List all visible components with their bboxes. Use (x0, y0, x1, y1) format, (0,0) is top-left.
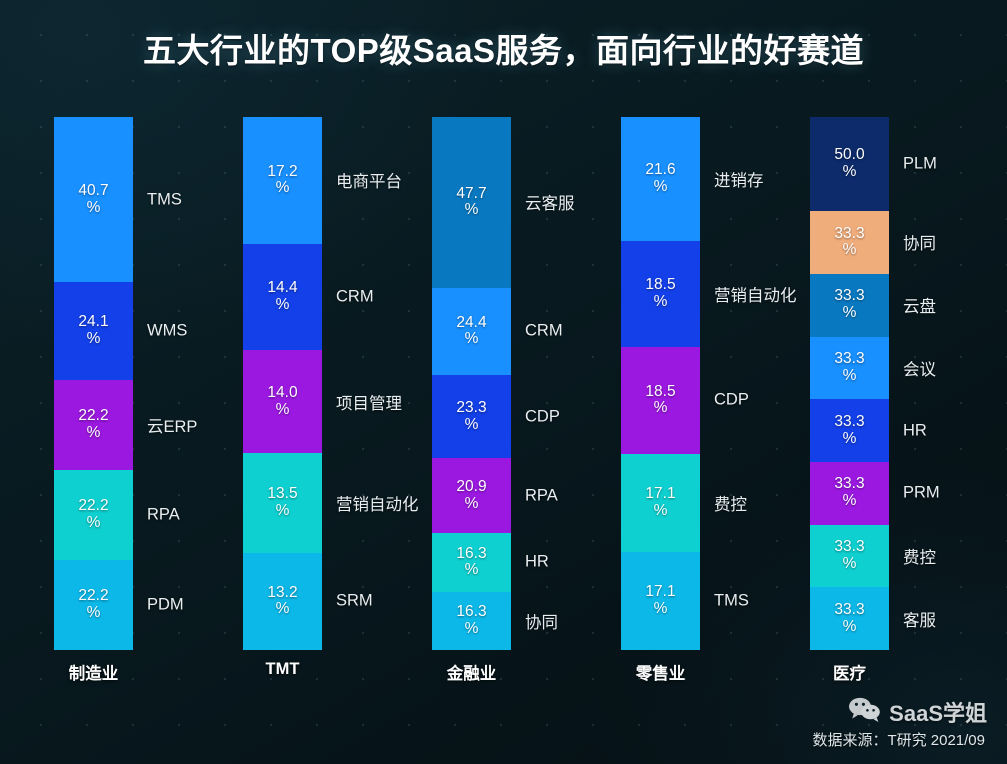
bar-segment-协同[interactable]: 33.3% (810, 211, 889, 274)
stacked-bar: 17.2%14.4%14.0%13.5%13.2% (243, 117, 322, 650)
category-label-制造业: 制造业 (54, 660, 133, 684)
bar-segment-会议[interactable]: 33.3% (810, 337, 889, 400)
watermark: SaaS学姐 (848, 696, 987, 728)
segment-percent-sign: % (843, 164, 857, 181)
segment-percent-sign: % (843, 619, 857, 636)
segment-percent-sign: % (465, 417, 479, 434)
segment-value: 18.5 (645, 277, 675, 294)
segment-percent-sign: % (843, 368, 857, 385)
stacked-bar: 50.0%33.3%33.3%33.3%33.3%33.3%33.3%33.3% (810, 117, 889, 650)
bar-segment-RPA[interactable]: 22.2% (54, 470, 133, 560)
segment-percent-sign: % (654, 400, 668, 417)
segment-value: 22.2 (78, 498, 108, 515)
segment-label-进销存: 进销存 (714, 167, 764, 191)
segment-label-费控: 费控 (903, 544, 936, 568)
segment-label-RPA: RPA (147, 505, 180, 524)
segment-value: 16.3 (456, 604, 486, 621)
segment-label-协同: 协同 (903, 230, 936, 254)
segment-percent-sign: % (843, 493, 857, 510)
bar-segment-费控[interactable]: 17.1% (621, 454, 700, 552)
source-note: 数据来源：T研究 2021/09 (812, 729, 985, 750)
bar-segment-PRM[interactable]: 33.3% (810, 462, 889, 525)
stacked-bar: 21.6%18.5%18.5%17.1%17.1% (621, 117, 700, 650)
bar-segment-CRM[interactable]: 24.4% (432, 288, 511, 375)
segment-percent-sign: % (87, 331, 101, 348)
bar-segment-项目管理[interactable]: 14.0% (243, 350, 322, 453)
segment-value: 13.5 (267, 486, 297, 503)
bar-segment-云ERP[interactable]: 22.2% (54, 380, 133, 470)
bar-segment-HR[interactable]: 33.3% (810, 399, 889, 462)
segment-label-RPA: RPA (525, 486, 558, 505)
segment-value: 17.2 (267, 164, 297, 181)
segment-label-PRM: PRM (903, 484, 940, 503)
segment-value: 33.3 (834, 414, 864, 431)
segment-value: 17.1 (645, 486, 675, 503)
segment-value: 33.3 (834, 602, 864, 619)
segment-percent-sign: % (465, 331, 479, 348)
segment-value: 22.2 (78, 588, 108, 605)
segment-label-云ERP: 云ERP (147, 413, 197, 437)
bar-segment-进销存[interactable]: 21.6% (621, 117, 700, 241)
bar-segment-客服[interactable]: 33.3% (810, 587, 889, 650)
category-label-医疗: 医疗 (810, 660, 889, 684)
segment-value: 16.3 (456, 546, 486, 563)
segment-label-CRM: CRM (336, 287, 374, 306)
watermark-text: SaaS学姐 (889, 696, 987, 728)
segment-label-TMS: TMS (147, 190, 182, 209)
bar-segment-CDP[interactable]: 18.5% (621, 347, 700, 453)
segment-label-TMS: TMS (714, 591, 749, 610)
segment-percent-sign: % (654, 601, 668, 618)
segment-value: 40.7 (78, 183, 108, 200)
segment-percent-sign: % (87, 425, 101, 442)
bar-segment-电商平台[interactable]: 17.2% (243, 117, 322, 244)
category-label-零售业: 零售业 (621, 660, 700, 684)
bar-segment-TMS[interactable]: 40.7% (54, 117, 133, 282)
bar-column-制造业: 40.7%24.1%22.2%22.2%22.2%TMSWMS云ERPRPAPD… (54, 117, 133, 650)
segment-label-费控: 费控 (714, 491, 747, 515)
segment-percent-sign: % (276, 297, 290, 314)
segment-value: 24.1 (78, 314, 108, 331)
segment-value: 33.3 (834, 539, 864, 556)
segment-label-电商平台: 电商平台 (336, 168, 402, 192)
segment-value: 23.3 (456, 400, 486, 417)
bar-segment-WMS[interactable]: 24.1% (54, 282, 133, 380)
bar-segment-云客服[interactable]: 47.7% (432, 117, 511, 288)
chart-canvas: 五大行业的TOP级SaaS服务，面向行业的好赛道 40.7%24.1%22.2%… (0, 0, 1007, 764)
segment-value: 13.2 (267, 585, 297, 602)
bar-column-医疗: 50.0%33.3%33.3%33.3%33.3%33.3%33.3%33.3%… (810, 117, 889, 650)
segment-label-客服: 客服 (903, 607, 936, 631)
segment-value: 18.5 (645, 384, 675, 401)
segment-percent-sign: % (843, 556, 857, 573)
segment-value: 21.6 (645, 162, 675, 179)
segment-value: 22.2 (78, 408, 108, 425)
segment-percent-sign: % (276, 180, 290, 197)
bar-segment-CRM[interactable]: 14.4% (243, 244, 322, 350)
segment-label-WMS: WMS (147, 321, 187, 340)
segment-percent-sign: % (843, 305, 857, 322)
segment-value: 14.0 (267, 385, 297, 402)
bar-segment-云盘[interactable]: 33.3% (810, 274, 889, 337)
segment-percent-sign: % (465, 621, 479, 638)
segment-percent-sign: % (87, 605, 101, 622)
segment-percent-sign: % (276, 402, 290, 419)
bar-segment-PLM[interactable]: 50.0% (810, 117, 889, 211)
bar-column-金融业: 47.7%24.4%23.3%20.9%16.3%16.3%云客服CRMCDPR… (432, 117, 511, 650)
segment-label-营销自动化: 营销自动化 (336, 491, 419, 515)
segment-percent-sign: % (276, 601, 290, 618)
segment-label-项目管理: 项目管理 (336, 390, 402, 414)
bar-segment-CDP[interactable]: 23.3% (432, 375, 511, 458)
segment-value: 20.9 (456, 479, 486, 496)
bar-segment-RPA[interactable]: 20.9% (432, 458, 511, 533)
bar-segment-营销自动化[interactable]: 18.5% (621, 241, 700, 347)
segment-label-云盘: 云盘 (903, 293, 936, 317)
category-label-金融业: 金融业 (432, 660, 511, 684)
segment-label-CDP: CDP (525, 407, 560, 426)
segment-label-PLM: PLM (903, 155, 937, 174)
segment-percent-sign: % (654, 179, 668, 196)
segment-label-营销自动化: 营销自动化 (714, 282, 797, 306)
page-title: 五大行业的TOP级SaaS服务，面向行业的好赛道 (0, 24, 1007, 72)
category-label-TMT: TMT (243, 660, 322, 679)
segment-label-PDM: PDM (147, 595, 184, 614)
segment-percent-sign: % (276, 503, 290, 520)
segment-value: 14.4 (267, 280, 297, 297)
segment-percent-sign: % (654, 503, 668, 520)
segment-label-云客服: 云客服 (525, 190, 575, 214)
segment-percent-sign: % (465, 202, 479, 219)
bar-column-TMT: 17.2%14.4%14.0%13.5%13.2%电商平台CRM项目管理营销自动… (243, 117, 322, 650)
segment-value: 17.1 (645, 584, 675, 601)
stacked-bar: 40.7%24.1%22.2%22.2%22.2% (54, 117, 133, 650)
segment-value: 47.7 (456, 186, 486, 203)
segment-label-HR: HR (903, 421, 927, 440)
segment-value: 33.3 (834, 226, 864, 243)
bar-segment-SRM[interactable]: 13.2% (243, 553, 322, 650)
segment-percent-sign: % (465, 496, 479, 513)
segment-percent-sign: % (465, 562, 479, 579)
segment-label-协同: 协同 (525, 609, 558, 633)
stacked-bar-plot-area: 40.7%24.1%22.2%22.2%22.2%TMSWMS云ERPRPAPD… (0, 117, 1007, 650)
bar-segment-协同[interactable]: 16.3% (432, 592, 511, 650)
segment-value: 33.3 (834, 351, 864, 368)
segment-value: 33.3 (834, 288, 864, 305)
segment-percent-sign: % (843, 242, 857, 259)
bar-segment-PDM[interactable]: 22.2% (54, 560, 133, 650)
wechat-icon (848, 697, 882, 728)
segment-value: 33.3 (834, 476, 864, 493)
segment-percent-sign: % (87, 200, 101, 217)
segment-label-会议: 会议 (903, 356, 936, 380)
segment-percent-sign: % (843, 431, 857, 448)
stacked-bar: 47.7%24.4%23.3%20.9%16.3%16.3% (432, 117, 511, 650)
bar-segment-费控[interactable]: 33.3% (810, 525, 889, 588)
segment-label-HR: HR (525, 553, 549, 572)
segment-percent-sign: % (654, 294, 668, 311)
segment-label-CDP: CDP (714, 391, 749, 410)
segment-value: 24.4 (456, 315, 486, 332)
bar-segment-TMS[interactable]: 17.1% (621, 552, 700, 650)
segment-label-SRM: SRM (336, 592, 373, 611)
bar-column-零售业: 21.6%18.5%18.5%17.1%17.1%进销存营销自动化CDP费控TM… (621, 117, 700, 650)
bar-segment-营销自动化[interactable]: 13.5% (243, 453, 322, 553)
segment-percent-sign: % (87, 515, 101, 532)
segment-value: 50.0 (834, 147, 864, 164)
segment-label-CRM: CRM (525, 322, 563, 341)
bar-segment-HR[interactable]: 16.3% (432, 533, 511, 591)
